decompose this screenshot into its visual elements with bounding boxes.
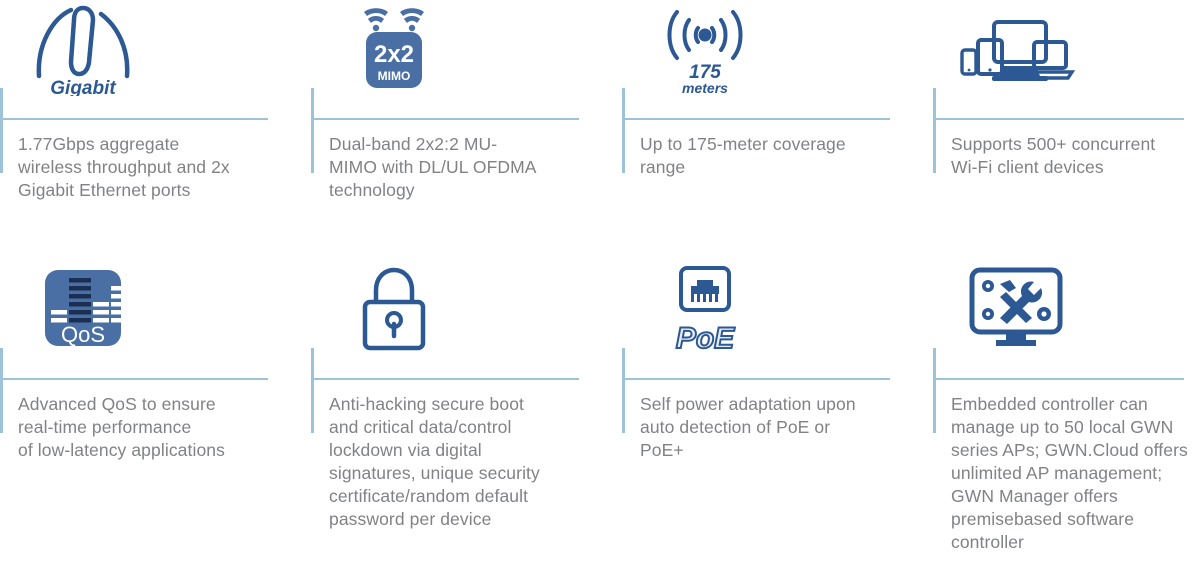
divider-vertical bbox=[0, 348, 3, 433]
feature-card-security: Anti-hacking secure boot and critical da… bbox=[311, 260, 622, 565]
feature-card-controller: Embedded controller can manage up to 50 … bbox=[933, 260, 1200, 565]
feature-card-qos: QoS Advanced QoS to ensure real-time per… bbox=[0, 260, 311, 565]
feature-description: Up to 175-meter coverage range bbox=[640, 133, 908, 179]
feature-description: Anti-hacking secure boot and critical da… bbox=[329, 393, 597, 531]
icon-label-text: QoS bbox=[61, 322, 105, 347]
divider-horizontal bbox=[311, 118, 579, 120]
icon-sublabel-text: MIMO bbox=[378, 69, 411, 83]
divider-vertical bbox=[311, 88, 314, 173]
feature-card-mimo: 2x2 MIMO Dual-band 2x2:2 MU- MIMO with D… bbox=[311, 0, 622, 260]
multiple-client-devices-icon bbox=[951, 4, 1081, 96]
divider-vertical bbox=[933, 88, 936, 173]
icon-label-text: PoE bbox=[676, 322, 735, 355]
padlock-security-icon bbox=[329, 264, 459, 356]
gigabit-antenna-icon: Gigabit bbox=[18, 4, 148, 96]
feature-card-coverage: 175 meters Up to 175-meter coverage rang… bbox=[622, 0, 933, 260]
divider-horizontal bbox=[933, 118, 1184, 120]
divider-vertical bbox=[0, 88, 3, 173]
qos-equalizer-icon: QoS bbox=[18, 264, 148, 356]
feature-card-gigabit: Gigabit 1.77Gbps aggregate wireless thro… bbox=[0, 0, 311, 260]
icon-zone bbox=[933, 0, 1200, 96]
icon-label-text: Gigabit bbox=[50, 78, 116, 96]
divider-vertical bbox=[311, 348, 314, 433]
icon-zone: Gigabit bbox=[0, 0, 311, 96]
feature-card-clients: Supports 500+ concurrent Wi-Fi client de… bbox=[933, 0, 1200, 260]
icon-zone: 2x2 MIMO bbox=[311, 0, 622, 96]
icon-zone: PoE bbox=[622, 260, 933, 356]
icon-label-text: 2x2 bbox=[374, 41, 414, 68]
icon-zone: 175 meters bbox=[622, 0, 933, 96]
divider-horizontal bbox=[0, 118, 268, 120]
divider-horizontal bbox=[311, 378, 579, 380]
icon-zone bbox=[311, 260, 622, 356]
divider-horizontal bbox=[622, 118, 890, 120]
feature-description: Self power adaptation upon auto detectio… bbox=[640, 393, 908, 462]
2x2-mimo-wifi-icon: 2x2 MIMO bbox=[329, 4, 459, 96]
embedded-controller-monitor-icon bbox=[951, 264, 1081, 356]
feature-description: Advanced QoS to ensure real-time perform… bbox=[18, 393, 286, 462]
icon-sublabel-text: meters bbox=[682, 80, 728, 96]
divider-horizontal bbox=[933, 378, 1184, 380]
poe-ethernet-port-icon: PoE bbox=[640, 264, 770, 356]
feature-description: Embedded controller can manage up to 50 … bbox=[951, 393, 1200, 554]
feature-card-poe: PoE Self power adaptation upon auto dete… bbox=[622, 260, 933, 565]
divider-vertical bbox=[622, 348, 625, 433]
divider-vertical bbox=[622, 88, 625, 173]
divider-horizontal bbox=[622, 378, 890, 380]
feature-description: Dual-band 2x2:2 MU- MIMO with DL/UL OFDM… bbox=[329, 133, 597, 202]
feature-description: 1.77Gbps aggregate wireless throughput a… bbox=[18, 133, 286, 202]
icon-zone: QoS bbox=[0, 260, 311, 356]
coverage-range-signal-icon: 175 meters bbox=[640, 4, 770, 96]
divider-vertical bbox=[933, 348, 936, 433]
divider-horizontal bbox=[0, 378, 268, 380]
feature-description: Supports 500+ concurrent Wi-Fi client de… bbox=[951, 133, 1200, 179]
feature-grid: Gigabit 1.77Gbps aggregate wireless thro… bbox=[0, 0, 1200, 565]
icon-zone bbox=[933, 260, 1200, 356]
